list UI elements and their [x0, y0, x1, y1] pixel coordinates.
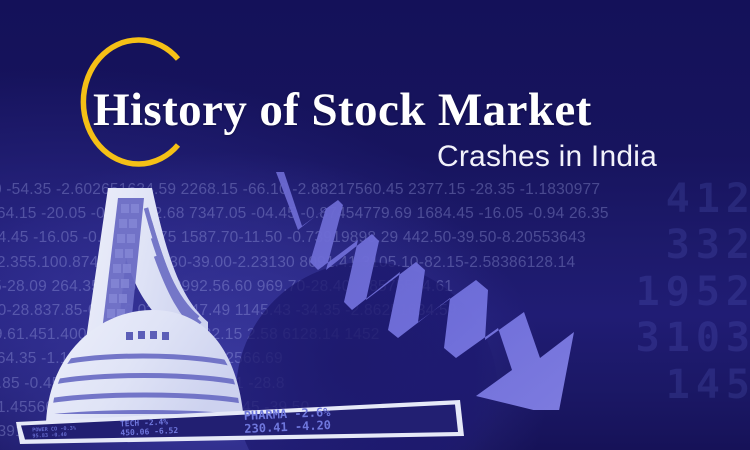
ticker-board: POWER CO -0.3% 95.83 -0.40 TECH -2.4% 45… [0, 378, 470, 450]
background-number-texture: 71.90 -54.35 -2.602651634.59 2268.15 -66… [0, 178, 750, 444]
downward-trend-arrow [240, 170, 600, 410]
bg-number-row: 05.1 391.50 8.29 442.50-39.50-8.2 [0, 420, 750, 444]
ticker-segment-label: TECH -2.4% [120, 417, 169, 428]
stock-market-crash-banner: 71.90 -54.35 -2.602651634.59 2268.15 -66… [0, 0, 750, 450]
faint-globe [236, 262, 498, 450]
background-large-digits: 412 332 1952 3103 145 [456, 176, 750, 408]
ticker-segment-value: 95.83 -0.40 [32, 432, 67, 440]
bse-building [22, 182, 272, 432]
bg-number-row: 970-28.837.85-0.45-0.02804647.49 1145.43… [0, 299, 750, 323]
ticker-segment-value: 230.41 -4.20 [244, 418, 331, 436]
bg-number-row: 52.355.100.87487.61710.30-39.00-2.23130 … [0, 251, 750, 275]
bg-number-row: 264.35 -1.1554.35 -2.86 -28.40892566.69 [0, 347, 750, 371]
bg-number-row: 064.15 -20.05 -0.809372.68 7347.05 -04.4… [0, 202, 750, 226]
ticker-segment-label: POWER CO -0.3% [32, 426, 77, 434]
bg-number-row: 61.45560.45 2377.15-28.35 -1.18 0.45 -39… [0, 396, 750, 420]
ticker-segment-value: 450.06 -6.52 [120, 426, 178, 438]
bg-number-row: 684.45 -16.05 -0.948949.75 1587.70-11.50… [0, 226, 750, 250]
bg-number-row: 77.15-28.09 264.35-1.15-0.098992.56.60 9… [0, 275, 750, 299]
ticker-segment-label: PHARMA -2.6% [243, 405, 331, 423]
page-subtitle: Crashes in India [437, 140, 657, 174]
bg-number-row: 71.90 -54.35 -2.602651634.59 2268.15 -66… [0, 178, 750, 202]
bg-number-row: 37.85 -0.4509.70-28.40 -2.857544.61 -28.… [0, 372, 750, 396]
page-title: History of Stock Market [93, 85, 592, 135]
bg-number-row: 50-39.61.451.400.87487.6505.10-82.15 2.5… [0, 323, 750, 347]
